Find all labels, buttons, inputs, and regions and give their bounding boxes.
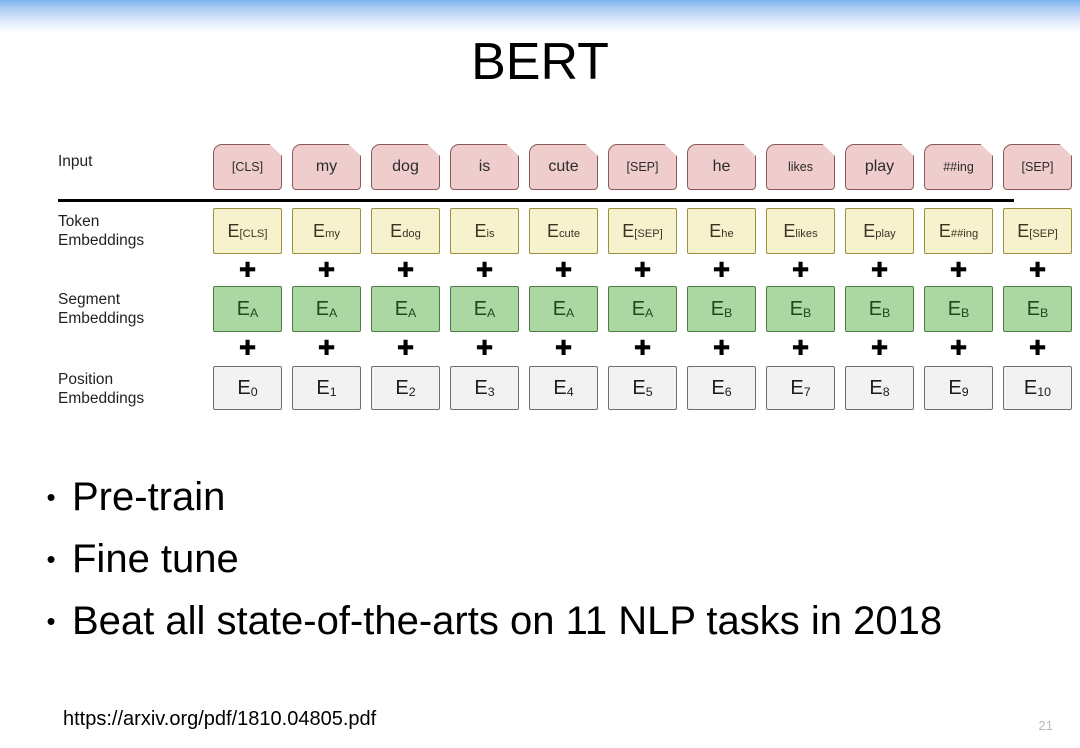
token-embedding-cell: Elikes (766, 208, 835, 254)
position-embedding-cell: E4 (529, 366, 598, 410)
embedding-subscript-label: 2 (409, 386, 416, 398)
embedding-base-label: E (632, 377, 645, 400)
bullet-marker-icon: • (30, 596, 72, 646)
input-token-label: play (865, 158, 894, 176)
bert-input-representation-diagram: Input [CLS]mydogiscute[SEP]helikesplay##… (58, 138, 1018, 430)
row-label-segment-line2: Embeddings (58, 309, 208, 328)
embedding-base-label: E (632, 298, 645, 321)
plus-icon: ✚ (608, 338, 677, 359)
input-token-label: likes (788, 160, 813, 174)
embedding-subscript-label: 5 (646, 386, 653, 398)
input-token-label: my (316, 158, 337, 176)
input-token-cell: is (450, 144, 519, 190)
embedding-subscript-label: 10 (1037, 386, 1051, 398)
embedding-subscript-label: 3 (488, 386, 495, 398)
embedding-base-label: E (622, 221, 634, 242)
segment-embedding-cell: EA (529, 286, 598, 332)
token-embedding-cell: Eis (450, 208, 519, 254)
embedding-base-label: E (395, 377, 408, 400)
plus-row-segment-to-position: ✚✚✚✚✚✚✚✚✚✚✚ (213, 338, 1072, 359)
position-embedding-cell: E5 (608, 366, 677, 410)
input-token-cells: [CLS]mydogiscute[SEP]helikesplay##ing[SE… (213, 144, 1072, 190)
plus-icon: ✚ (924, 338, 993, 359)
embedding-base-label: E (709, 221, 721, 242)
embedding-subscript-label: 4 (567, 386, 574, 398)
plus-icon: ✚ (450, 260, 519, 281)
plus-icon: ✚ (213, 338, 282, 359)
bullet-marker-icon: • (30, 472, 72, 522)
token-embedding-cell: Edog (371, 208, 440, 254)
embedding-base-label: E (1027, 298, 1040, 321)
plus-icon: ✚ (371, 338, 440, 359)
row-label-token-line2: Embeddings (58, 231, 208, 250)
embedding-subscript-label: 7 (804, 386, 811, 398)
row-label-position-embeddings: Position Embeddings (58, 370, 208, 408)
embedding-base-label: E (237, 377, 250, 400)
embedding-base-label: E (869, 377, 882, 400)
embedding-base-label: E (863, 221, 875, 242)
embedding-base-label: E (547, 221, 559, 242)
row-label-position-line1: Position (58, 370, 208, 389)
embedding-base-label: E (711, 377, 724, 400)
plus-icon: ✚ (1003, 338, 1072, 359)
embedding-base-label: E (395, 298, 408, 321)
token-embedding-cell: E[SEP] (1003, 208, 1072, 254)
input-separator-line (58, 199, 1014, 202)
embedding-base-label: E (869, 298, 882, 321)
row-label-segment-embeddings: Segment Embeddings (58, 290, 208, 328)
embedding-subscript-label: [SEP] (634, 229, 663, 240)
position-embedding-cell: E7 (766, 366, 835, 410)
embedding-subscript-label: A (250, 307, 258, 319)
position-embedding-cell: E3 (450, 366, 519, 410)
plus-icon: ✚ (213, 260, 282, 281)
embedding-subscript-label: 0 (251, 386, 258, 398)
embedding-base-label: E (553, 377, 566, 400)
row-label-token-embeddings: Token Embeddings (58, 212, 208, 250)
row-label-position-line2: Embeddings (58, 389, 208, 408)
embedding-subscript-label: ##ing (951, 229, 978, 240)
bullet-text: Pre-train (72, 472, 225, 522)
segment-embedding-cell: EA (608, 286, 677, 332)
plus-icon: ✚ (766, 338, 835, 359)
input-token-label: is (479, 158, 491, 176)
plus-icon: ✚ (608, 260, 677, 281)
plus-icon: ✚ (529, 338, 598, 359)
plus-icon: ✚ (292, 338, 361, 359)
plus-icon: ✚ (845, 338, 914, 359)
page-title: BERT (0, 32, 1080, 92)
input-token-cell: [CLS] (213, 144, 282, 190)
embedding-subscript-label: 9 (962, 386, 969, 398)
input-token-cell: play (845, 144, 914, 190)
plus-icon: ✚ (450, 338, 519, 359)
embedding-subscript-label: dog (402, 229, 421, 240)
segment-embedding-cell: EB (924, 286, 993, 332)
plus-row-token-to-segment: ✚✚✚✚✚✚✚✚✚✚✚ (213, 260, 1072, 281)
row-label-segment-line1: Segment (58, 290, 208, 309)
embedding-subscript-label: [SEP] (1029, 229, 1058, 240)
list-item: •Fine tune (30, 534, 1060, 584)
page-number: 21 (1039, 718, 1053, 733)
embedding-subscript-label: A (566, 307, 574, 319)
top-gradient-band (0, 0, 1080, 34)
plus-icon: ✚ (687, 260, 756, 281)
plus-icon: ✚ (766, 260, 835, 281)
embedding-subscript-label: 8 (883, 386, 890, 398)
embedding-base-label: E (1024, 377, 1037, 400)
input-token-label: cute (548, 158, 578, 176)
plus-icon: ✚ (371, 260, 440, 281)
segment-embedding-cells: EAEAEAEAEAEAEBEBEBEBEB (213, 286, 1072, 332)
embedding-base-label: E (948, 377, 961, 400)
input-token-cell: ##ing (924, 144, 993, 190)
bullet-list: •Pre-train•Fine tune•Beat all state-of-t… (30, 472, 1060, 658)
plus-icon: ✚ (845, 260, 914, 281)
embedding-base-label: E (316, 377, 329, 400)
embedding-subscript-label: B (724, 307, 732, 319)
embedding-subscript-label: B (961, 307, 969, 319)
segment-embedding-cell: EA (213, 286, 282, 332)
token-embedding-cell: Emy (292, 208, 361, 254)
input-token-label: [SEP] (627, 160, 659, 174)
plus-icon: ✚ (687, 338, 756, 359)
embedding-base-label: E (316, 298, 329, 321)
position-embedding-cell: E6 (687, 366, 756, 410)
embedding-base-label: E (237, 298, 250, 321)
token-embedding-cell: Ecute (529, 208, 598, 254)
list-item: •Beat all state-of-the-arts on 11 NLP ta… (30, 596, 1060, 646)
list-item: •Pre-train (30, 472, 1060, 522)
position-embedding-cell: E8 (845, 366, 914, 410)
embedding-base-label: E (474, 298, 487, 321)
plus-icon: ✚ (924, 260, 993, 281)
embedding-base-label: E (553, 298, 566, 321)
bullet-marker-icon: • (30, 534, 72, 584)
bullet-text: Fine tune (72, 534, 239, 584)
input-token-cell: my (292, 144, 361, 190)
position-embedding-cell: E0 (213, 366, 282, 410)
input-token-cell: he (687, 144, 756, 190)
embedding-subscript-label: is (486, 229, 494, 240)
bullet-text: Beat all state-of-the-arts on 11 NLP tas… (72, 596, 942, 646)
plus-icon: ✚ (529, 260, 598, 281)
position-embedding-cell: E10 (1003, 366, 1072, 410)
source-link[interactable]: https://arxiv.org/pdf/1810.04805.pdf (63, 708, 376, 731)
token-embedding-cell: E[SEP] (608, 208, 677, 254)
position-embedding-cells: E0E1E2E3E4E5E6E7E8E9E10 (213, 366, 1072, 410)
token-embedding-cells: E[CLS]EmyEdogEisEcuteE[SEP]EheElikesEpla… (213, 208, 1072, 254)
plus-icon: ✚ (292, 260, 361, 281)
segment-embedding-cell: EA (292, 286, 361, 332)
embedding-base-label: E (390, 221, 402, 242)
position-embedding-cell: E9 (924, 366, 993, 410)
input-token-label: he (713, 158, 731, 176)
token-embedding-cell: Ehe (687, 208, 756, 254)
row-label-input: Input (58, 152, 208, 171)
embedding-base-label: E (939, 221, 951, 242)
embedding-subscript-label: he (721, 229, 733, 240)
embedding-subscript-label: A (645, 307, 653, 319)
row-label-token-line1: Token (58, 212, 208, 231)
embedding-subscript-label: B (803, 307, 811, 319)
embedding-subscript-label: A (408, 307, 416, 319)
input-token-label: [CLS] (232, 160, 263, 174)
token-embedding-cell: Eplay (845, 208, 914, 254)
embedding-base-label: E (228, 221, 240, 242)
segment-embedding-cell: EA (450, 286, 519, 332)
embedding-subscript-label: play (875, 229, 895, 240)
token-embedding-cell: E[CLS] (213, 208, 282, 254)
embedding-base-label: E (790, 377, 803, 400)
embedding-base-label: E (783, 221, 795, 242)
position-embedding-cell: E1 (292, 366, 361, 410)
plus-icon: ✚ (1003, 260, 1072, 281)
input-token-cell: likes (766, 144, 835, 190)
embedding-base-label: E (474, 221, 486, 242)
input-token-label: [SEP] (1022, 160, 1054, 174)
segment-embedding-cell: EA (371, 286, 440, 332)
embedding-subscript-label: likes (795, 229, 817, 240)
embedding-base-label: E (948, 298, 961, 321)
embedding-subscript-label: 6 (725, 386, 732, 398)
embedding-base-label: E (790, 298, 803, 321)
input-token-label: dog (392, 158, 419, 176)
embedding-base-label: E (711, 298, 724, 321)
embedding-subscript-label: B (1040, 307, 1048, 319)
position-embedding-cell: E2 (371, 366, 440, 410)
input-token-cell: [SEP] (608, 144, 677, 190)
embedding-base-label: E (313, 221, 325, 242)
embedding-subscript-label: A (487, 307, 495, 319)
embedding-subscript-label: 1 (330, 386, 337, 398)
segment-embedding-cell: EB (1003, 286, 1072, 332)
segment-embedding-cell: EB (687, 286, 756, 332)
embedding-subscript-label: my (325, 229, 340, 240)
input-token-cell: dog (371, 144, 440, 190)
embedding-subscript-label: [CLS] (240, 229, 268, 240)
segment-embedding-cell: EB (845, 286, 914, 332)
embedding-subscript-label: A (329, 307, 337, 319)
token-embedding-cell: E##ing (924, 208, 993, 254)
embedding-subscript-label: cute (559, 229, 580, 240)
segment-embedding-cell: EB (766, 286, 835, 332)
input-token-cell: cute (529, 144, 598, 190)
input-token-cell: [SEP] (1003, 144, 1072, 190)
embedding-subscript-label: B (882, 307, 890, 319)
embedding-base-label: E (474, 377, 487, 400)
embedding-base-label: E (1017, 221, 1029, 242)
input-token-label: ##ing (943, 160, 974, 174)
